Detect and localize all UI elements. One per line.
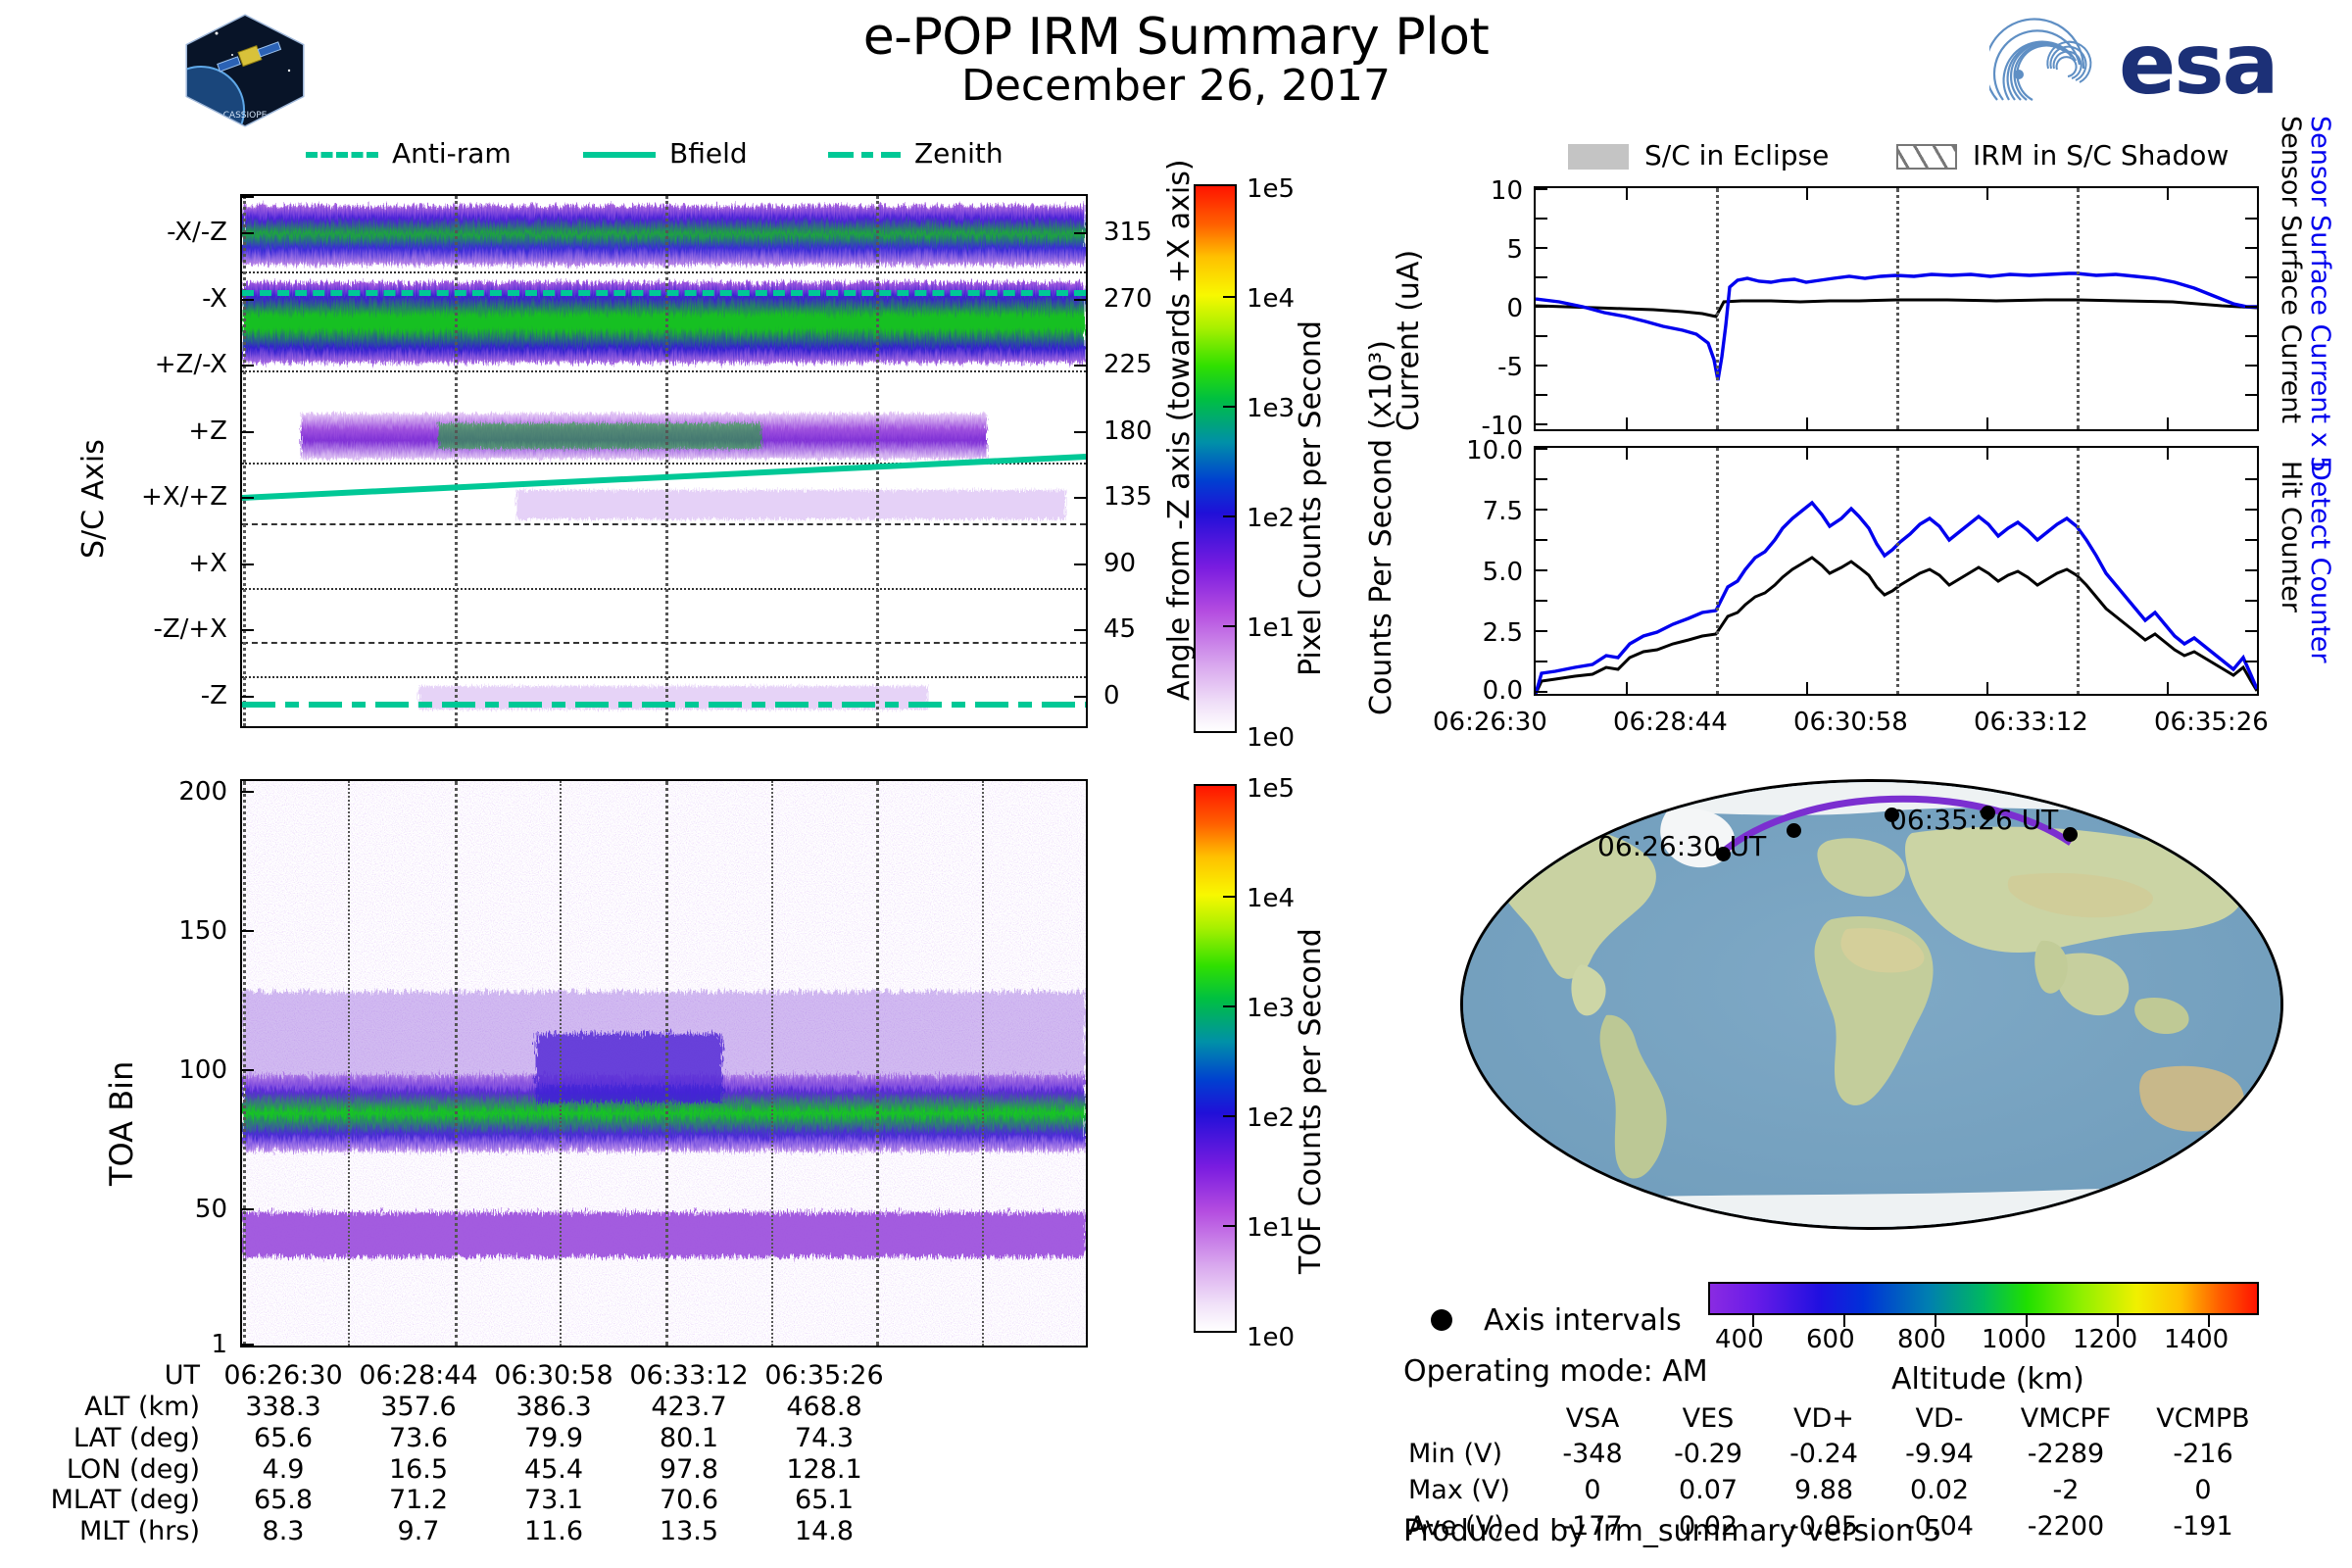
- toa-tick-1: 1: [165, 1330, 227, 1359]
- angle-tick-6: 45: [1103, 614, 1136, 644]
- axis-intervals-dot-icon: [1431, 1309, 1452, 1331]
- tof-cb-tick-1e2: 1e2: [1247, 1103, 1295, 1133]
- sc-axis-tick-6: -Z/+X: [131, 614, 227, 644]
- lon-col-3: 97.8: [621, 1454, 757, 1486]
- row-label-mlat: MLAT (deg): [39, 1485, 216, 1516]
- tof-cb-tick-1e5: 1e5: [1247, 774, 1295, 804]
- legend-irm-shadow-label: IRM in S/C Shadow: [1973, 139, 2229, 171]
- voltage-row-min: Min (V) -348 -0.29 -0.24 -9.94 -2289 -21…: [1407, 1436, 2272, 1472]
- counts-tick-75: 7.5: [1423, 497, 1523, 526]
- toa-tick-200: 200: [165, 777, 227, 807]
- row-label-ut: UT: [39, 1360, 216, 1392]
- sc-axis-tick-3: +Z: [157, 416, 227, 446]
- alt-cb-tick-600: 600: [1806, 1325, 1855, 1354]
- altitude-colorbar-label: Altitude (km): [1891, 1362, 2084, 1396]
- counts-tick-0: 0.0: [1423, 676, 1523, 706]
- row-label-lat: LAT (deg): [39, 1423, 216, 1454]
- max-vdm: 0.02: [1882, 1472, 1997, 1508]
- lon-col-4: 128.1: [757, 1454, 892, 1486]
- lat-col-2: 79.9: [486, 1423, 621, 1454]
- anti-ram-line-swatch: [306, 152, 378, 158]
- table-row-ut: UT 06:26:30 06:28:44 06:30:58 06:33:12 0…: [39, 1360, 892, 1392]
- map-end-time-label: 06:35:26 UT: [1889, 804, 2058, 836]
- counts-xtick-4: 06:35:26: [2154, 708, 2269, 737]
- legend-irm-shadow: IRM in S/C Shadow: [1896, 139, 2229, 171]
- toa-tick-150: 150: [165, 916, 227, 946]
- alt-cb-tick-400: 400: [1715, 1325, 1764, 1354]
- track-point-end: [2063, 827, 2078, 842]
- cassiope-mission-patch-icon: CASSIOPE: [181, 12, 309, 129]
- max-vcmpb: 0: [2134, 1472, 2272, 1508]
- voltage-row-label-max: Max (V): [1407, 1472, 1535, 1508]
- legend-zenith-label: Zenith: [914, 137, 1004, 170]
- counts-xtick-3: 06:33:12: [1974, 708, 2088, 737]
- alt-cb-tick-800: 800: [1897, 1325, 1946, 1354]
- angle-tick-7: 0: [1103, 681, 1120, 710]
- esa-wordmark: esa: [2119, 16, 2278, 114]
- voltage-header-vsa: VSA: [1535, 1401, 1650, 1436]
- toa-bin-ylabel: TOA Bin: [103, 1039, 140, 1186]
- ut-col-4: 06:35:26: [757, 1360, 892, 1392]
- orbit-ground-track-map: 06:26:30 UT 06:35:26 UT: [1460, 779, 2283, 1230]
- row-label-lon: LON (deg): [39, 1454, 216, 1486]
- pixel-cb-tick-1e1: 1e1: [1247, 613, 1295, 643]
- table-row-lon: LON (deg) 4.9 16.5 45.4 97.8 128.1: [39, 1454, 892, 1486]
- axis-intervals-label: Axis intervals: [1484, 1303, 1682, 1338]
- toa-heatmap-image: [242, 781, 1086, 1346]
- zenith-line-swatch: [828, 152, 901, 158]
- min-vdm: -9.94: [1882, 1436, 1997, 1472]
- alt-col-0: 338.3: [216, 1392, 351, 1423]
- min-vcmpb: -216: [2134, 1436, 2272, 1472]
- counts-tick-10: 10.0: [1423, 436, 1523, 465]
- sc-axis-tick-0: -X/-Z: [157, 218, 227, 247]
- ave-vcmpb: -191: [2134, 1508, 2272, 1544]
- zenith-trace: [242, 702, 1086, 708]
- angle-tick-1: 270: [1103, 284, 1152, 314]
- counts-line-plot: [1534, 446, 2259, 696]
- sc-axis-ylabel: S/C Axis: [76, 392, 111, 559]
- counts-tick-50: 5.0: [1423, 558, 1523, 587]
- toa-tick-50: 50: [165, 1195, 227, 1224]
- ave-vmcpf: -2200: [1997, 1508, 2134, 1544]
- min-vdp: -0.24: [1766, 1436, 1882, 1472]
- tof-counts-colorbar: [1194, 784, 1237, 1333]
- min-vmcpf: -2289: [1997, 1436, 2134, 1472]
- alt-cb-tick-1200: 1200: [2073, 1325, 2137, 1354]
- legend-bfield: Bfield: [583, 137, 748, 170]
- counts-xtick-2: 06:30:58: [1793, 708, 1908, 737]
- mlat-col-4: 65.1: [757, 1485, 892, 1516]
- current-tick-neg5: -5: [1448, 353, 1523, 382]
- tof-cb-tick-1e1: 1e1: [1247, 1213, 1295, 1243]
- lat-col-4: 74.3: [757, 1423, 892, 1454]
- angle-tick-0: 315: [1103, 218, 1152, 247]
- shadow-hatch-swatch: [1896, 144, 1957, 170]
- sc-axis-tick-4: +X/+Z: [127, 482, 227, 512]
- alt-col-2: 386.3: [486, 1392, 621, 1423]
- detect-counter-label: Detect Counter: [2305, 461, 2335, 676]
- lat-col-0: 65.6: [216, 1423, 351, 1454]
- legend-sc-eclipse: S/C in Eclipse: [1568, 139, 1829, 171]
- alt-col-1: 357.6: [351, 1392, 486, 1423]
- lon-col-2: 45.4: [486, 1454, 621, 1486]
- angle-tick-5: 90: [1103, 549, 1136, 578]
- bfield-line-swatch: [583, 152, 656, 158]
- angle-axis-ylabel: Angle from -Z axis (towards +X axis): [1162, 230, 1197, 701]
- world-map-image: [1460, 779, 2283, 1230]
- track-point-1: [1787, 823, 1801, 838]
- sc-axis-tick-5: +X: [157, 549, 227, 578]
- tof-cb-tick-1e3: 1e3: [1247, 994, 1295, 1023]
- max-ves: 0.07: [1650, 1472, 1766, 1508]
- legend-anti-ram: Anti-ram: [306, 137, 512, 170]
- lat-col-3: 80.1: [621, 1423, 757, 1454]
- voltage-header-vdm: VD-: [1882, 1401, 1997, 1436]
- min-ves: -0.29: [1650, 1436, 1766, 1472]
- ut-col-0: 06:26:30: [216, 1360, 351, 1392]
- operating-mode-label: Operating mode: AM: [1403, 1354, 1708, 1389]
- lon-col-1: 16.5: [351, 1454, 486, 1486]
- legend-anti-ram-label: Anti-ram: [392, 137, 512, 170]
- alt-col-3: 423.7: [621, 1392, 757, 1423]
- pixel-cb-tick-1e4: 1e4: [1247, 284, 1295, 314]
- max-vmcpf: -2: [1997, 1472, 2134, 1508]
- angle-tick-4: 135: [1103, 482, 1152, 512]
- row-label-alt: ALT (km): [39, 1392, 216, 1423]
- alt-cb-tick-1400: 1400: [2164, 1325, 2229, 1354]
- esa-logo: esa: [1989, 14, 2342, 112]
- lat-col-1: 73.6: [351, 1423, 486, 1454]
- counts-tick-25: 2.5: [1423, 618, 1523, 648]
- counts-ylabel: Counts Per Second (x10³): [1364, 490, 1398, 715]
- table-row-alt: ALT (km) 338.3 357.6 386.3 423.7 468.8: [39, 1392, 892, 1423]
- mlat-col-1: 71.2: [351, 1485, 486, 1516]
- max-vsa: 0: [1535, 1472, 1650, 1508]
- sc-axis-tick-1: -X: [157, 284, 227, 314]
- mlt-col-3: 13.5: [621, 1516, 757, 1547]
- toa-tick-100: 100: [165, 1055, 227, 1085]
- row-label-mlt: MLT (hrs): [39, 1516, 216, 1547]
- legend-zenith: Zenith: [828, 137, 1004, 170]
- counts-xtick-1: 06:28:44: [1613, 708, 1728, 737]
- produced-by-footer: Produced by irm_summary version 5: [1403, 1514, 1941, 1548]
- angle-tick-2: 225: [1103, 350, 1152, 379]
- angle-tick-3: 180: [1103, 416, 1152, 446]
- current-line-plot: [1534, 186, 2259, 431]
- pixel-cb-tick-1e2: 1e2: [1247, 504, 1295, 533]
- alt-col-4: 468.8: [757, 1392, 892, 1423]
- mlat-col-3: 70.6: [621, 1485, 757, 1516]
- pixel-cb-tick-1e5: 1e5: [1247, 174, 1295, 204]
- sc-axis-tick-2: +Z/-X: [137, 350, 227, 379]
- mlat-col-0: 65.8: [216, 1485, 351, 1516]
- counts-xtick-0: 06:26:30: [1433, 708, 1547, 737]
- voltage-header-vdp: VD+: [1766, 1401, 1882, 1436]
- voltage-row-max: Max (V) 0 0.07 9.88 0.02 -2 0: [1407, 1472, 2272, 1508]
- pixel-counts-heatmap: [240, 194, 1088, 728]
- mlt-col-2: 11.6: [486, 1516, 621, 1547]
- voltage-header-row: VSA VES VD+ VD- VMCPF VCMPB: [1407, 1401, 2272, 1436]
- voltage-header-vmcpf: VMCPF: [1997, 1401, 2134, 1436]
- mlt-col-1: 9.7: [351, 1516, 486, 1547]
- pixel-cb-tick-1e0: 1e0: [1247, 723, 1295, 753]
- ut-col-2: 06:30:58: [486, 1360, 621, 1392]
- mlat-col-2: 73.1: [486, 1485, 621, 1516]
- esa-swirl-icon: [1989, 14, 2117, 112]
- legend-bfield-label: Bfield: [669, 137, 748, 170]
- sensor-surface-current-x5-label: Sensor Surface Current x 5: [2305, 116, 2335, 410]
- table-row-mlt: MLT (hrs) 8.3 9.7 11.6 13.5 14.8: [39, 1516, 892, 1547]
- mlt-col-4: 14.8: [757, 1516, 892, 1547]
- pixel-cb-tick-1e3: 1e3: [1247, 394, 1295, 423]
- tof-counts-heatmap: [240, 779, 1088, 1347]
- sensor-surface-current-label: Sensor Surface Current: [2276, 116, 2306, 410]
- legend-sc-eclipse-label: S/C in Eclipse: [1644, 139, 1829, 171]
- max-vdp: 9.88: [1766, 1472, 1882, 1508]
- current-tick-10: 10: [1448, 176, 1523, 206]
- table-row-mlat: MLAT (deg) 65.8 71.2 73.1 70.6 65.1: [39, 1485, 892, 1516]
- hit-counter-label: Hit Counter: [2276, 461, 2306, 657]
- voltage-corner-cell: [1407, 1401, 1535, 1436]
- voltage-row-label-min: Min (V): [1407, 1436, 1535, 1472]
- current-tick-0: 0: [1448, 294, 1523, 323]
- lon-col-0: 4.9: [216, 1454, 351, 1486]
- orbit-track: [1463, 782, 2280, 1227]
- map-start-time-label: 06:26:30 UT: [1597, 830, 1766, 862]
- sc-axis-tick-7: -Z: [157, 681, 227, 710]
- ephemeris-table: UT 06:26:30 06:28:44 06:30:58 06:33:12 0…: [39, 1360, 892, 1547]
- alt-cb-tick-1000: 1000: [1982, 1325, 2046, 1354]
- current-tick-5: 5: [1448, 235, 1523, 265]
- bfield-trace: [242, 196, 1086, 726]
- mlt-col-0: 8.3: [216, 1516, 351, 1547]
- pixel-colorbar-label: Pixel Counts per Second: [1294, 245, 1328, 676]
- pixel-counts-colorbar: [1194, 184, 1237, 733]
- tof-colorbar-label: TOF Counts per Second: [1294, 843, 1328, 1274]
- tof-cb-tick-1e0: 1e0: [1247, 1323, 1295, 1352]
- altitude-colorbar: [1708, 1282, 2259, 1315]
- voltage-header-vcmpb: VCMPB: [2134, 1401, 2272, 1436]
- ut-col-1: 06:28:44: [351, 1360, 486, 1392]
- table-row-lat: LAT (deg) 65.6 73.6 79.9 80.1 74.3: [39, 1423, 892, 1454]
- tof-cb-tick-1e4: 1e4: [1247, 884, 1295, 913]
- ut-col-3: 06:33:12: [621, 1360, 757, 1392]
- min-vsa: -348: [1535, 1436, 1650, 1472]
- voltage-header-ves: VES: [1650, 1401, 1766, 1436]
- eclipse-swatch: [1568, 144, 1629, 170]
